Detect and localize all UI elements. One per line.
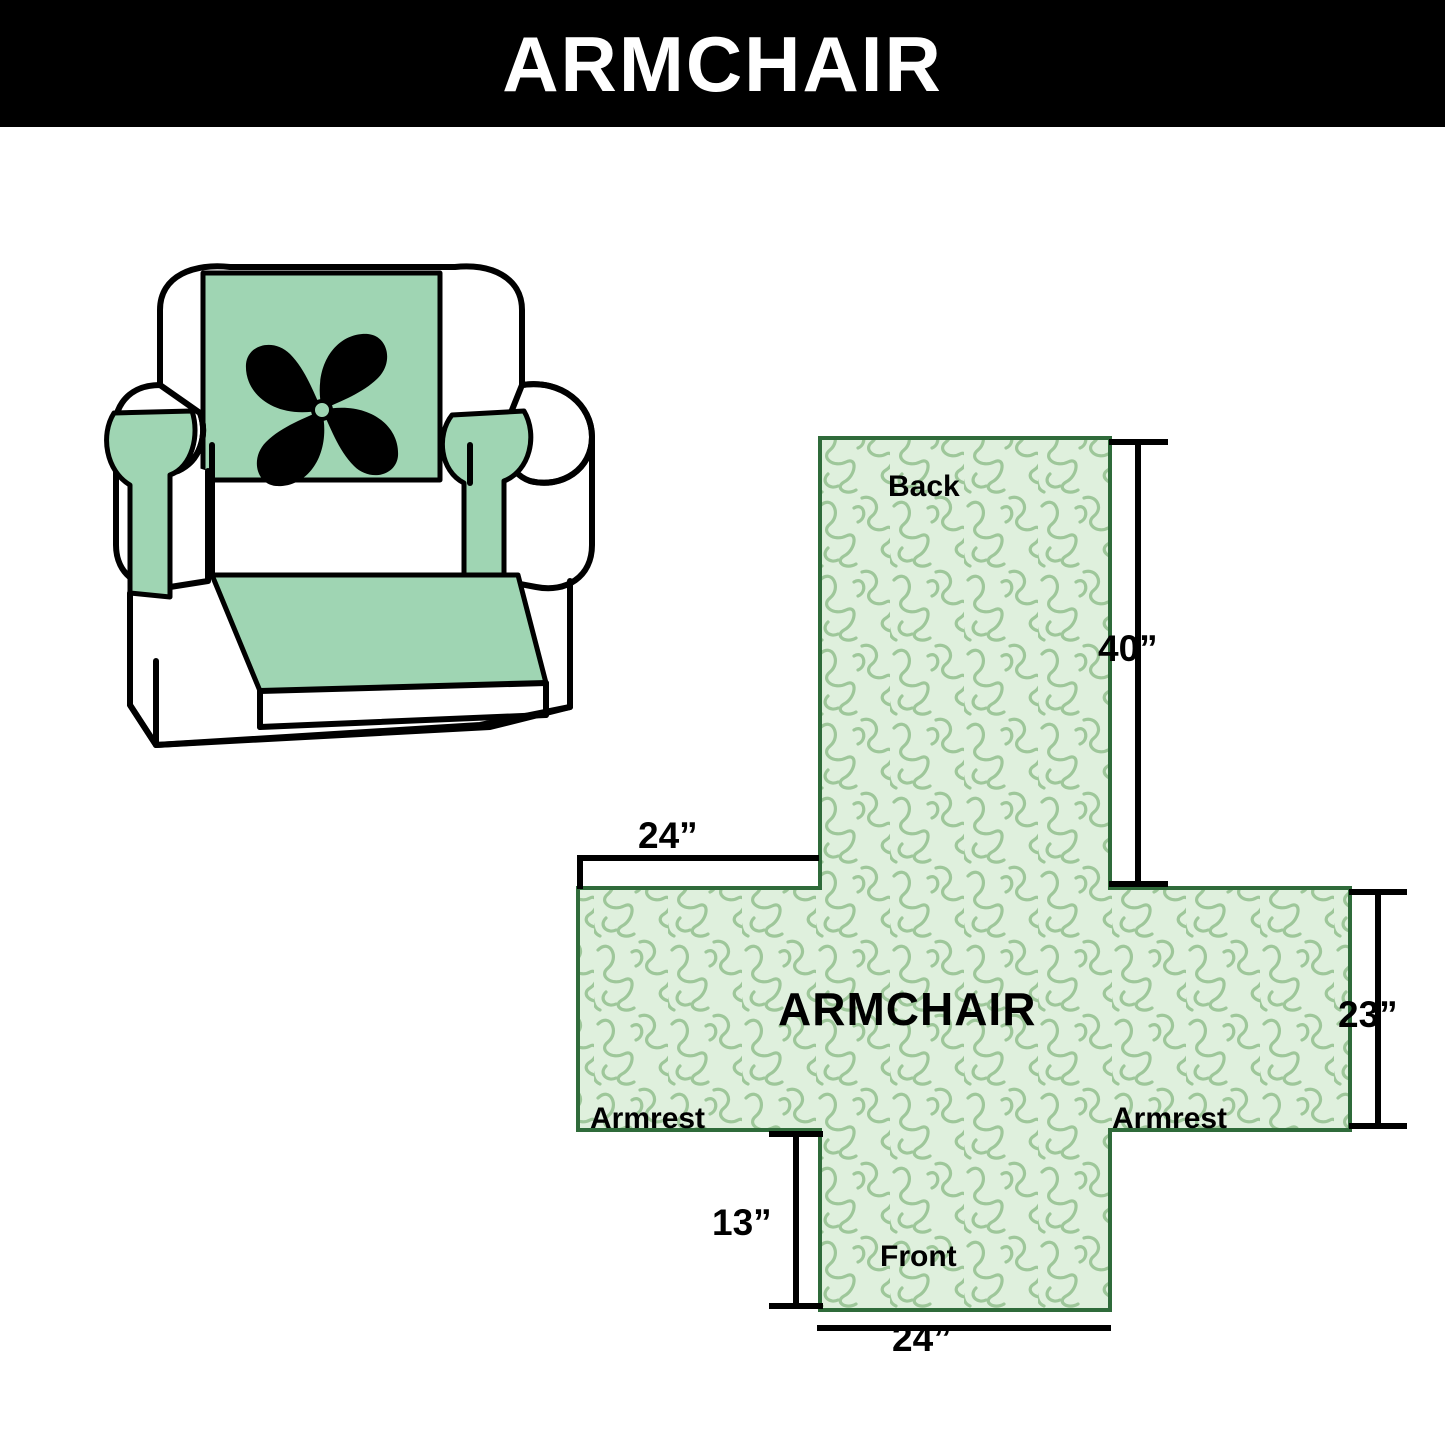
cover-shape (578, 438, 1350, 1310)
dimension-bottom-width: 24” (892, 1318, 952, 1360)
dimension-side-height: 23” (1338, 994, 1398, 1036)
header-bar: ARMCHAIR (0, 0, 1445, 127)
cover-diagram: Back Front ARMCHAIR Armrest Armrest 40” … (520, 420, 1440, 1410)
label-armchair: ARMCHAIR (778, 982, 1036, 1036)
label-armrest-right: Armrest (1112, 1102, 1227, 1136)
dimension-back-height: 40” (1098, 628, 1158, 670)
page-root: ARMCHAIR (0, 0, 1445, 1445)
page-title: ARMCHAIR (502, 25, 943, 103)
label-back: Back (888, 470, 960, 504)
dimension-top-width: 24” (638, 815, 698, 857)
dimension-front-height: 13” (712, 1202, 772, 1244)
label-armrest-left: Armrest (590, 1102, 705, 1136)
label-front: Front (880, 1240, 957, 1274)
